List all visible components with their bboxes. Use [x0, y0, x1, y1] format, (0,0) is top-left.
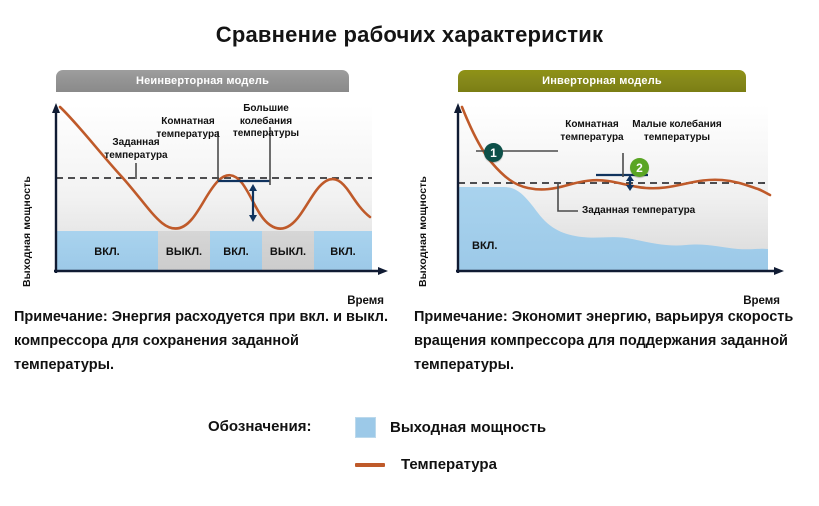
y-axis-label: Выходная мощность	[21, 137, 33, 287]
legend-swatch-box-icon	[355, 417, 376, 438]
note-inverter: Примечание: Экономит энергию, варьируя с…	[414, 305, 806, 377]
note-non-inverter: Примечание: Энергия расходуется при вкл.…	[14, 305, 389, 377]
x-axis-arrow	[378, 267, 388, 275]
bar-label-on-2: ВКЛ.	[223, 246, 248, 258]
legend-item-temperature: Температура	[355, 456, 497, 473]
legend-item-output-power: Выходная мощность	[355, 417, 546, 438]
badge-1-label: 1	[490, 146, 497, 160]
badge-1: 1	[484, 143, 503, 162]
legend-label-temperature: Температура	[401, 456, 497, 473]
badge-2: 2	[630, 158, 649, 177]
panel-header-inverter: Инверторная модель	[458, 70, 746, 92]
annotation-setpoint: Заданная температура	[90, 137, 182, 162]
panel-header-label: Инверторная модель	[542, 75, 662, 87]
badge-2-label: 2	[636, 161, 643, 175]
panel-header-non-inverter: Неинверторная модель	[56, 70, 349, 92]
annotation-large-fluctuation: Большие колебания температуры	[222, 103, 310, 141]
panel-non-inverter: Неинверторная модель Выходная мощность	[22, 70, 402, 301]
legend-label-output-power: Выходная мощность	[390, 419, 546, 436]
page-title: Сравнение рабочих характеристик	[0, 22, 819, 48]
bar-label-off-1: ВЫКЛ.	[166, 246, 202, 258]
area-label-on: ВКЛ.	[472, 240, 497, 252]
panel-inverter: Инверторная модель Выходная мощность	[418, 70, 798, 301]
annotation-small-fluctuation: Малые колебания температуры	[614, 119, 740, 144]
bar-label-on-1: ВКЛ.	[94, 246, 119, 258]
bar-label-on-3: ВКЛ.	[330, 246, 355, 258]
bar-label-off-2: ВЫКЛ.	[270, 246, 306, 258]
legend-title: Обозначения:	[208, 418, 311, 435]
panel-header-label: Неинверторная модель	[136, 75, 269, 87]
chart-inverter: Выходная мощность	[418, 101, 798, 301]
annotation-setpoint: Заданная температура	[582, 205, 722, 218]
x-axis-arrow	[774, 267, 784, 275]
chart-non-inverter: Выходная мощность	[22, 101, 402, 301]
legend-swatch-line-icon	[355, 463, 385, 467]
y-axis-label: Выходная мощность	[417, 137, 429, 287]
